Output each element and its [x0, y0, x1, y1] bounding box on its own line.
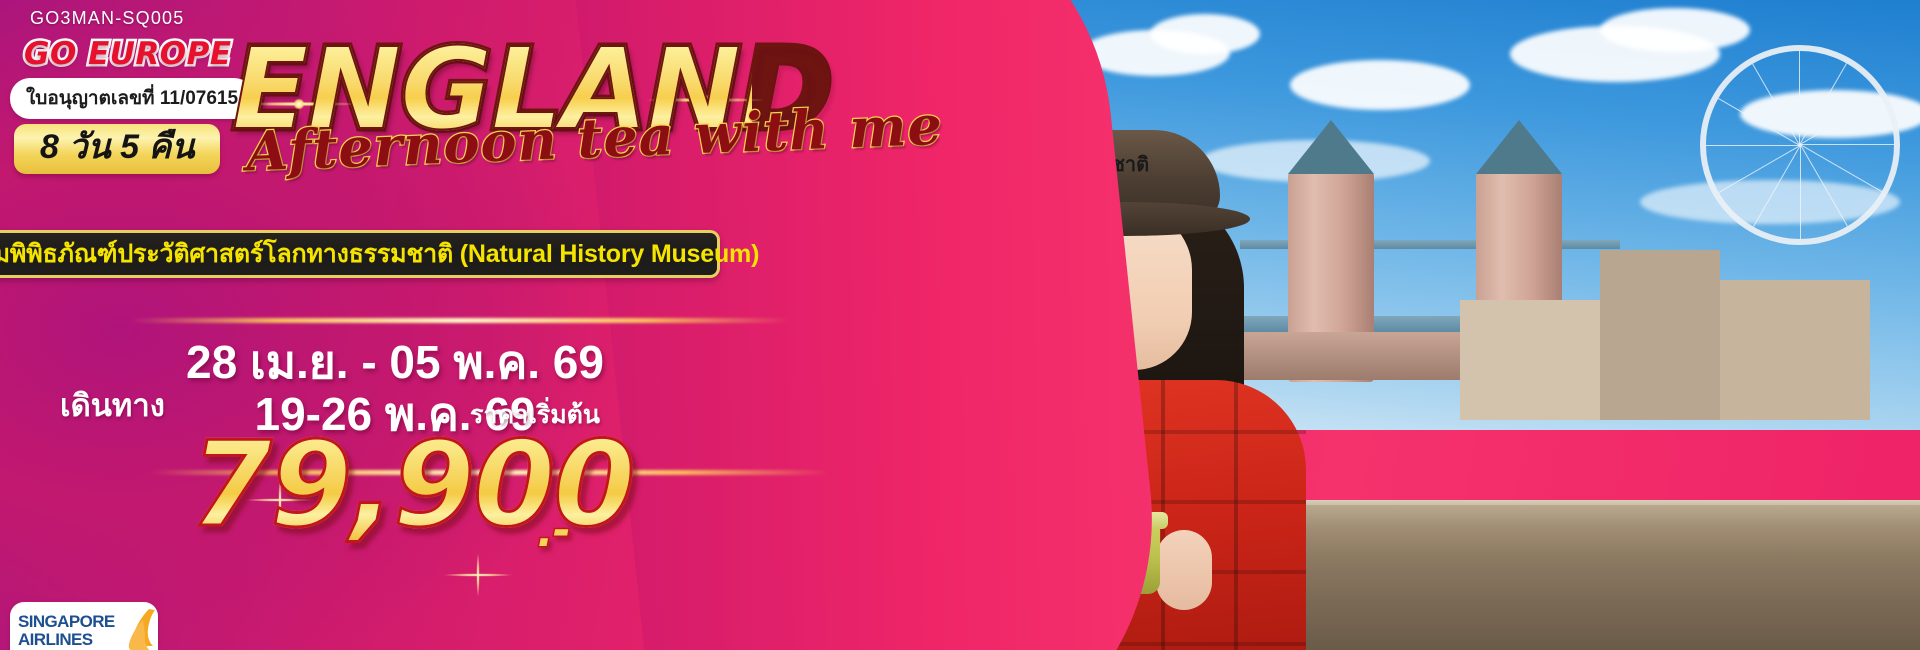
bridge-tower-roof-left [1288, 120, 1374, 174]
london-eye-spoke [1706, 145, 1800, 146]
license-badge: ใบอนุญาตเลขที่ 11/07615 [10, 78, 254, 119]
gold-light-streak [130, 318, 790, 323]
riverside-building [1600, 250, 1720, 420]
price-block: 79,900 .- [190, 425, 633, 543]
airline-name: SINGAPORE AIRLINES [18, 613, 115, 650]
model-hand-right [1156, 530, 1212, 610]
promotional-poster: The Camden Market พิพิธภัณฑ์ประวัติศาสตร… [0, 0, 1920, 650]
airline-name-line1: SINGAPORE [18, 613, 115, 630]
travel-date-1: 28 เม.ย. - 05 พ.ค. 69 [185, 337, 605, 389]
singapore-airlines-bird-icon [119, 608, 161, 650]
airline-name-line2: AIRLINES [18, 631, 115, 648]
london-eye-spoke [1800, 144, 1894, 145]
bridge-tower-roof-right [1476, 120, 1562, 174]
product-code: GO3MAN-SQ005 [30, 8, 184, 29]
duration-badge: 8 วัน 5 คืน [14, 124, 220, 174]
london-eye-spoke [1800, 145, 1801, 239]
travel-label: เดินทาง [60, 380, 165, 430]
singapore-airlines-logo: SINGAPORE AIRLINES [10, 602, 158, 650]
brand-label: GO EUROPE [24, 36, 232, 72]
price-suffix: .- [538, 499, 570, 559]
riverside-building [1720, 280, 1870, 420]
offer-details-panel: GO3MAN-SQ005 GO EUROPE ใบอนุญาตเลขที่ 11… [0, 0, 760, 650]
london-eye [1700, 45, 1900, 245]
highlight-bar: เข้าชมพิพิธภัณฑ์ประวัติศาสตร์โลกทางธรรมช… [0, 230, 720, 278]
cloud [1150, 14, 1260, 54]
riverside-building [1460, 300, 1600, 420]
highlight-bar-text: เข้าชมพิพิธภัณฑ์ประวัติศาสตร์โลกทางธรรมช… [0, 234, 759, 274]
london-eye-spoke [1799, 51, 1800, 145]
cloud [1290, 60, 1470, 110]
